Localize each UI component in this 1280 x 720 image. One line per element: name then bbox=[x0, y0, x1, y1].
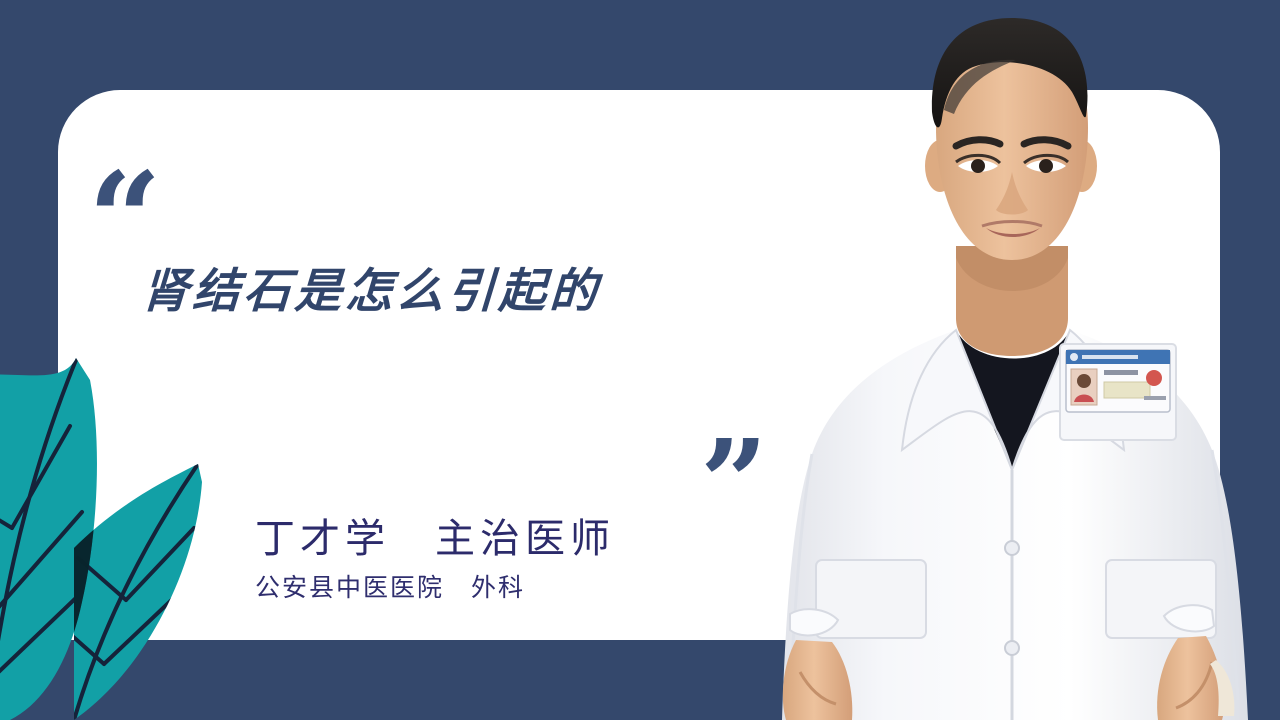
page-title: 肾结石是怎么引起的 bbox=[140, 252, 603, 321]
presenter-block: 丁才学 主治医师 公安县中医医院 外科 bbox=[255, 515, 615, 603]
content-card bbox=[58, 90, 1220, 640]
quote-close-icon: ” bbox=[700, 424, 764, 542]
presenter-name: 丁才学 主治医师 bbox=[255, 515, 615, 563]
title-card: “ 肾结石是怎么引起的 ” 丁才学 主治医师 公安县中医医院 外科 bbox=[0, 0, 1280, 720]
presenter-affiliation: 公安县中医医院 外科 bbox=[255, 573, 615, 603]
